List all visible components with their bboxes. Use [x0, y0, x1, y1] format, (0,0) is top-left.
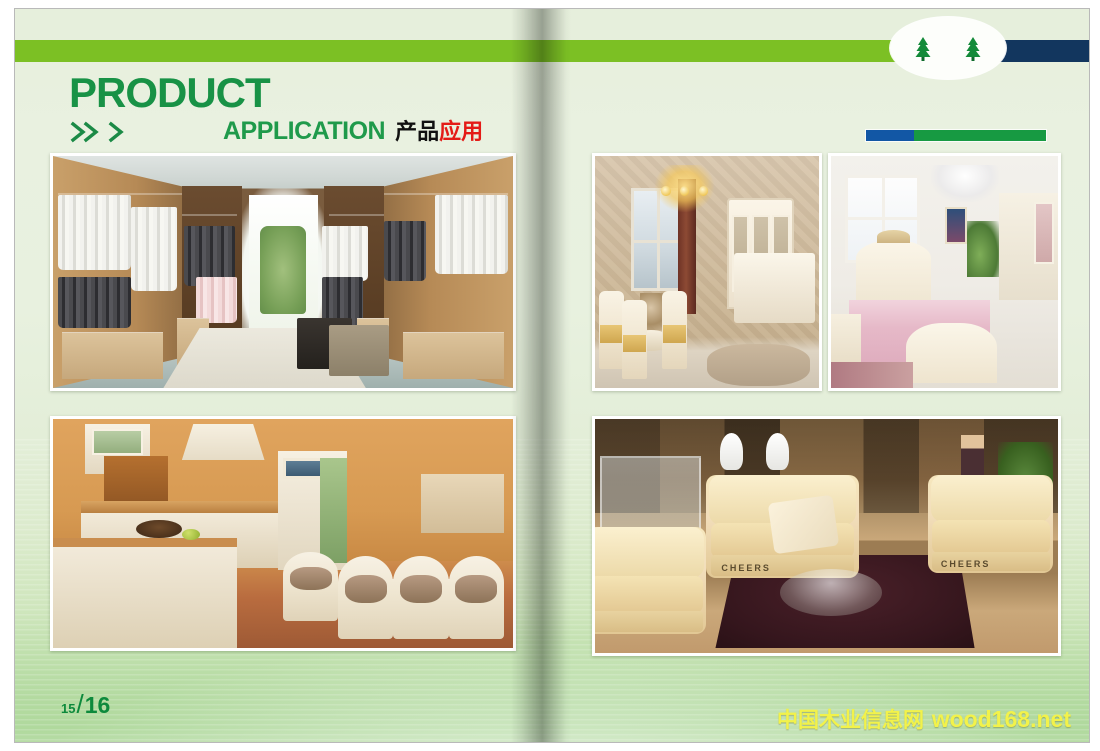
page-number-separator: /: [76, 689, 83, 720]
page-number: 15 / 16: [61, 689, 110, 720]
page-title-block: PRODUCT APPLICATION 产品应用: [69, 71, 483, 146]
decorative-rule-green: [914, 130, 1046, 141]
watermark-chinese: 中国木业信息网: [777, 708, 924, 732]
catalog-page: PRODUCT APPLICATION 产品应用: [0, 0, 1100, 751]
sofa-brand-label: CHEERS: [721, 563, 771, 573]
page-title-product: PRODUCT: [69, 71, 483, 115]
pink-bedroom-photo: [828, 153, 1061, 391]
site-watermark: 中国木业信息网 wood168.net: [777, 704, 1071, 734]
pine-tree-icon: [962, 36, 984, 62]
decorative-rule-blue: [866, 130, 914, 141]
classic-kitchen-photo: [50, 416, 516, 651]
page-title-chinese-black: 产品: [395, 120, 439, 145]
book-spine-shadow: [511, 9, 571, 742]
decorative-rule: [865, 129, 1047, 142]
page-sheet: PRODUCT APPLICATION 产品应用: [14, 8, 1090, 743]
tree-badge-oval: [890, 17, 1006, 79]
page-title-chinese-red: 应用: [439, 120, 483, 145]
european-living-room-photo: [592, 153, 822, 391]
page-number-current: 15: [61, 701, 75, 716]
watermark-url: wood168.net: [932, 706, 1071, 732]
pine-tree-icon: [912, 36, 934, 62]
page-title-application: APPLICATION: [223, 117, 385, 146]
double-chevron-right-icon: [69, 120, 135, 146]
sofa-brand-label: CHEERS: [941, 559, 991, 569]
walk-in-wardrobe-photo: [50, 153, 516, 391]
sofa-showroom-photo: CHEERS CHEERS: [592, 416, 1061, 656]
page-title-chinese: 产品应用: [395, 120, 483, 146]
page-number-total: 16: [85, 692, 111, 719]
